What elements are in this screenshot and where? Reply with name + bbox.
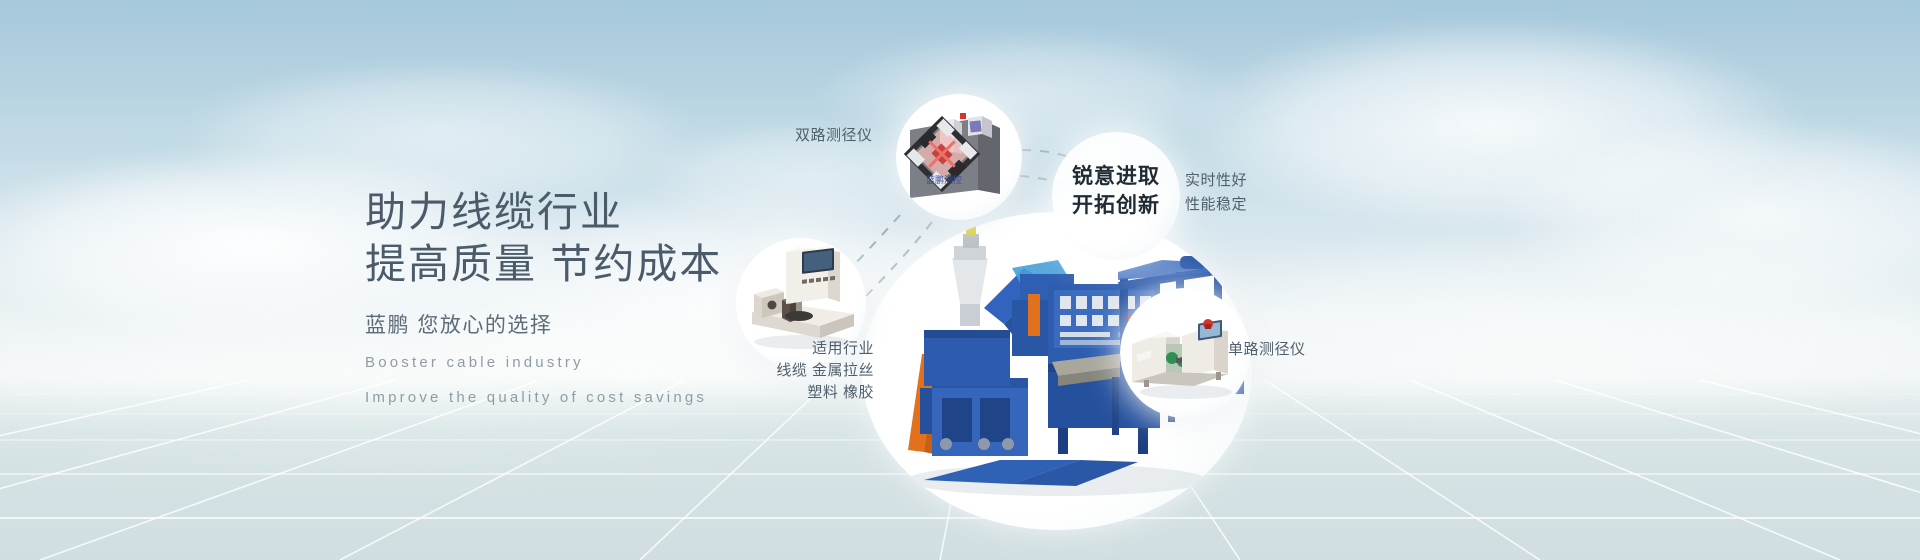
product-composition: 蓝鹏测控 (700, 0, 1920, 560)
label-performance-line-2: 性能稳定 (1185, 193, 1247, 217)
promotional-banner: 助力线缆行业 提高质量 节约成本 蓝鹏 您放心的选择 Booster cable… (0, 0, 1920, 560)
headline-block: 助力线缆行业 提高质量 节约成本 蓝鹏 您放心的选择 Booster cable… (365, 186, 722, 411)
subtitle-chinese: 蓝鹏 您放心的选择 (365, 311, 722, 341)
subtitle-english-line-2: Improve the quality of cost savings (365, 385, 722, 411)
slogan-line-2: 开拓创新 (1052, 191, 1180, 220)
device-brand-text: 蓝鹏测控 (926, 174, 962, 185)
industry-title: 适用行业 (714, 338, 874, 360)
slogan-block: 锐意进取 开拓创新 (1052, 162, 1180, 220)
label-performance: 实时性好 性能稳定 (1185, 169, 1247, 217)
headline-line-1: 助力线缆行业 (365, 186, 722, 238)
headline-line-2: 提高质量 节约成本 (365, 238, 722, 290)
label-applicable-industries: 适用行业 线缆 金属拉丝 塑料 橡胶 (714, 338, 874, 404)
subtitle-english-line-1: Booster cable industry (365, 350, 722, 376)
label-performance-line-1: 实时性好 (1185, 169, 1247, 193)
label-single-axis-gauge: 单路测径仪 (1228, 339, 1306, 361)
dual-axis-diameter-gauge-illustration: 蓝鹏测控 (896, 94, 1022, 220)
bubble-dual-axis-gauge: 蓝鹏测控 (896, 94, 1022, 220)
industry-line-1: 线缆 金属拉丝 (714, 360, 874, 382)
label-dual-axis-gauge: 双路测径仪 (795, 125, 873, 147)
industry-line-2: 塑料 橡胶 (714, 382, 874, 404)
slogan-line-1: 锐意进取 (1052, 162, 1180, 191)
